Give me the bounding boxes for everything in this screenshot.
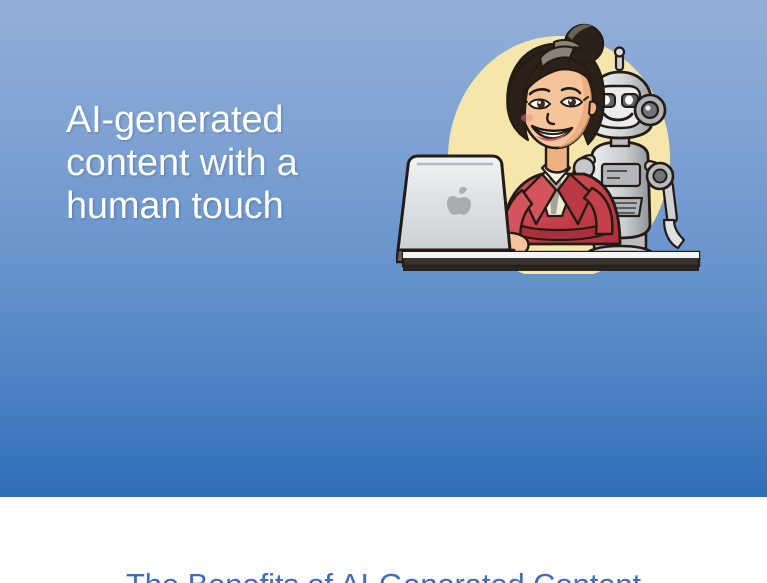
laptop — [396, 156, 518, 262]
section-title: The Benefits of AI-Generated Content — [0, 567, 767, 583]
woman-with-laptop-and-robot-icon — [396, 18, 706, 274]
hero-illustration — [396, 18, 706, 274]
lower-section: The Benefits of AI-Generated Content — [0, 497, 767, 583]
page-title: AI-generated content with a human touch — [66, 99, 386, 228]
slide: AI-generated content with a human touch — [0, 0, 767, 583]
hero-panel: AI-generated content with a human touch — [0, 0, 767, 497]
desk — [403, 252, 699, 271]
